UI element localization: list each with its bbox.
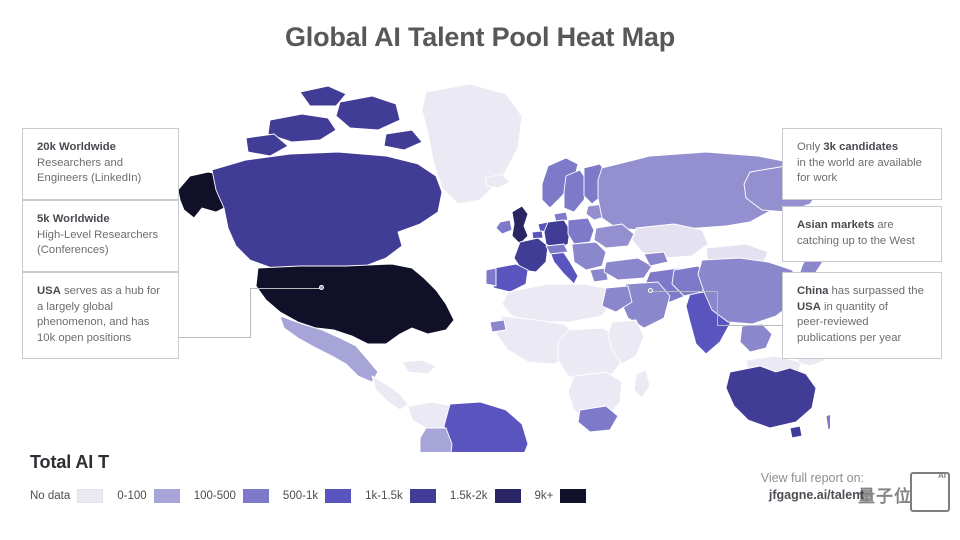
callout-line: Engineers (LinkedIn) — [37, 171, 166, 187]
callout-emphasis: 3k candidates — [823, 141, 898, 153]
legend-item: 1.5k-2k — [450, 489, 535, 503]
callout-line: (Conferences) — [37, 243, 166, 259]
region-portugal — [486, 268, 496, 286]
callout-line: 10k open positions — [37, 331, 166, 347]
legend-item-swatch — [325, 489, 351, 503]
region-peru-bolivia — [420, 428, 452, 452]
callout-line: peer-reviewed — [797, 315, 929, 331]
region-canada-arctic-4 — [300, 86, 346, 106]
callout-line: Researchers and — [37, 156, 166, 172]
legend-item-swatch — [410, 489, 436, 503]
region-balkans — [572, 242, 606, 270]
report-source: View full report on: jfgagne.ai/talent — [761, 470, 864, 504]
region-new-zealand — [826, 412, 830, 430]
watermark-ai-badge: AI — [938, 471, 946, 480]
world-heat-map — [150, 72, 830, 452]
region-senegal — [490, 320, 506, 332]
region-canada — [212, 152, 442, 270]
legend-item-swatch — [154, 489, 180, 503]
callout-line: phenomenon, and has — [37, 315, 166, 331]
region-turkey — [604, 258, 652, 280]
callout-line: in the world are available — [797, 156, 929, 172]
leader-line-china-horizontal-bottom — [717, 325, 783, 326]
legend-item: 1k-1.5k — [365, 489, 450, 503]
callout-emphasis: USA — [797, 301, 821, 313]
region-united-states — [256, 264, 454, 344]
legend-item-swatch — [77, 489, 103, 503]
leader-line-usa-horizontal-top — [250, 288, 322, 289]
callout-emphasis: Asian markets — [797, 219, 874, 231]
legend-item-swatch — [495, 489, 521, 503]
watermark: 量子位 AI — [858, 470, 950, 516]
callout-line: in quantity of — [821, 301, 888, 313]
report-source-line: View full report on: — [761, 470, 864, 487]
region-tasmania — [790, 426, 802, 438]
callout-asian-markets: Asian markets are catching up to the Wes… — [782, 206, 942, 262]
region-canada-arctic-5 — [384, 130, 422, 150]
legend-item-label: 1.5k-2k — [450, 490, 488, 502]
legend-item: No data — [30, 489, 117, 503]
legend-item: 9k+ — [535, 489, 587, 503]
leader-line-usa-vertical — [250, 288, 251, 338]
callout-line: has surpassed the — [828, 285, 923, 297]
callout-line: serves as a hub for — [61, 285, 160, 297]
callout-emphasis: 5k Worldwide — [37, 213, 110, 225]
legend-title: Total AI T — [30, 452, 109, 473]
legend-item-label: 1k-1.5k — [365, 490, 403, 502]
region-canada-arctic-2 — [336, 96, 400, 130]
region-caribbean — [402, 360, 436, 374]
leader-line-china-vertical — [717, 291, 718, 326]
infographic-root: Global AI Talent Pool Heat Map — [0, 0, 960, 540]
callout-line: for work — [797, 171, 929, 187]
callout-worldwide-high-level-researchers: 5k Worldwide High-Level Researchers (Con… — [22, 200, 179, 272]
region-united-kingdom — [512, 206, 528, 244]
region-north-africa — [502, 284, 612, 322]
legend-item: 500-1k — [283, 489, 365, 503]
legend-item: 0-100 — [117, 489, 193, 503]
leader-dot-china — [648, 288, 653, 293]
watermark-text: 量子位 — [858, 482, 912, 507]
region-southeast-asia — [740, 324, 772, 352]
region-switzerland-austria — [546, 244, 568, 254]
callout-usa-hub: USA serves as a hub for a largely global… — [22, 272, 179, 359]
callout-line: Only — [797, 141, 823, 153]
callout-line: catching up to the West — [797, 234, 929, 250]
world-map-svg — [150, 72, 830, 452]
region-poland — [568, 218, 594, 244]
page-title: Global AI Talent Pool Heat Map — [0, 22, 960, 53]
leader-line-usa-horizontal-bottom — [179, 337, 251, 338]
legend-item-label: No data — [30, 490, 70, 502]
region-australia — [726, 366, 816, 428]
legend-item-swatch — [560, 489, 586, 503]
region-central-america — [372, 376, 408, 410]
legend-item: 100-500 — [194, 489, 283, 503]
callout-line: publications per year — [797, 331, 929, 347]
callout-china-surpassed-usa: China has surpassed the USA in quantity … — [782, 272, 942, 359]
callout-line: a largely global — [37, 300, 166, 316]
callout-available-candidates: Only 3k candidates in the world are avai… — [782, 128, 942, 200]
region-ireland — [496, 220, 512, 234]
legend-item-label: 500-1k — [283, 490, 318, 502]
region-kazakhstan — [632, 224, 708, 258]
watermark-logo-icon — [910, 472, 950, 512]
callout-emphasis: USA — [37, 285, 61, 297]
legend-item-label: 0-100 — [117, 490, 146, 502]
callout-line: are — [874, 219, 893, 231]
callout-worldwide-researchers-engineers: 20k Worldwide Researchers and Engineers … — [22, 128, 179, 200]
legend-item-label: 100-500 — [194, 490, 236, 502]
region-brazil — [444, 402, 528, 452]
leader-line-china-horizontal-top — [651, 291, 718, 292]
legend-item-swatch — [243, 489, 269, 503]
leader-dot-usa — [319, 285, 324, 290]
callout-line: High-Level Researchers — [37, 228, 166, 244]
region-madagascar — [634, 370, 650, 398]
legend-item-label: 9k+ — [535, 490, 554, 502]
callout-emphasis: China — [797, 285, 828, 297]
callout-emphasis: 20k Worldwide — [37, 141, 116, 153]
legend: No data0-100100-500500-1k1k-1.5k1.5k-2k9… — [30, 489, 586, 503]
report-source-url[interactable]: jfgagne.ai/talent — [761, 487, 864, 504]
